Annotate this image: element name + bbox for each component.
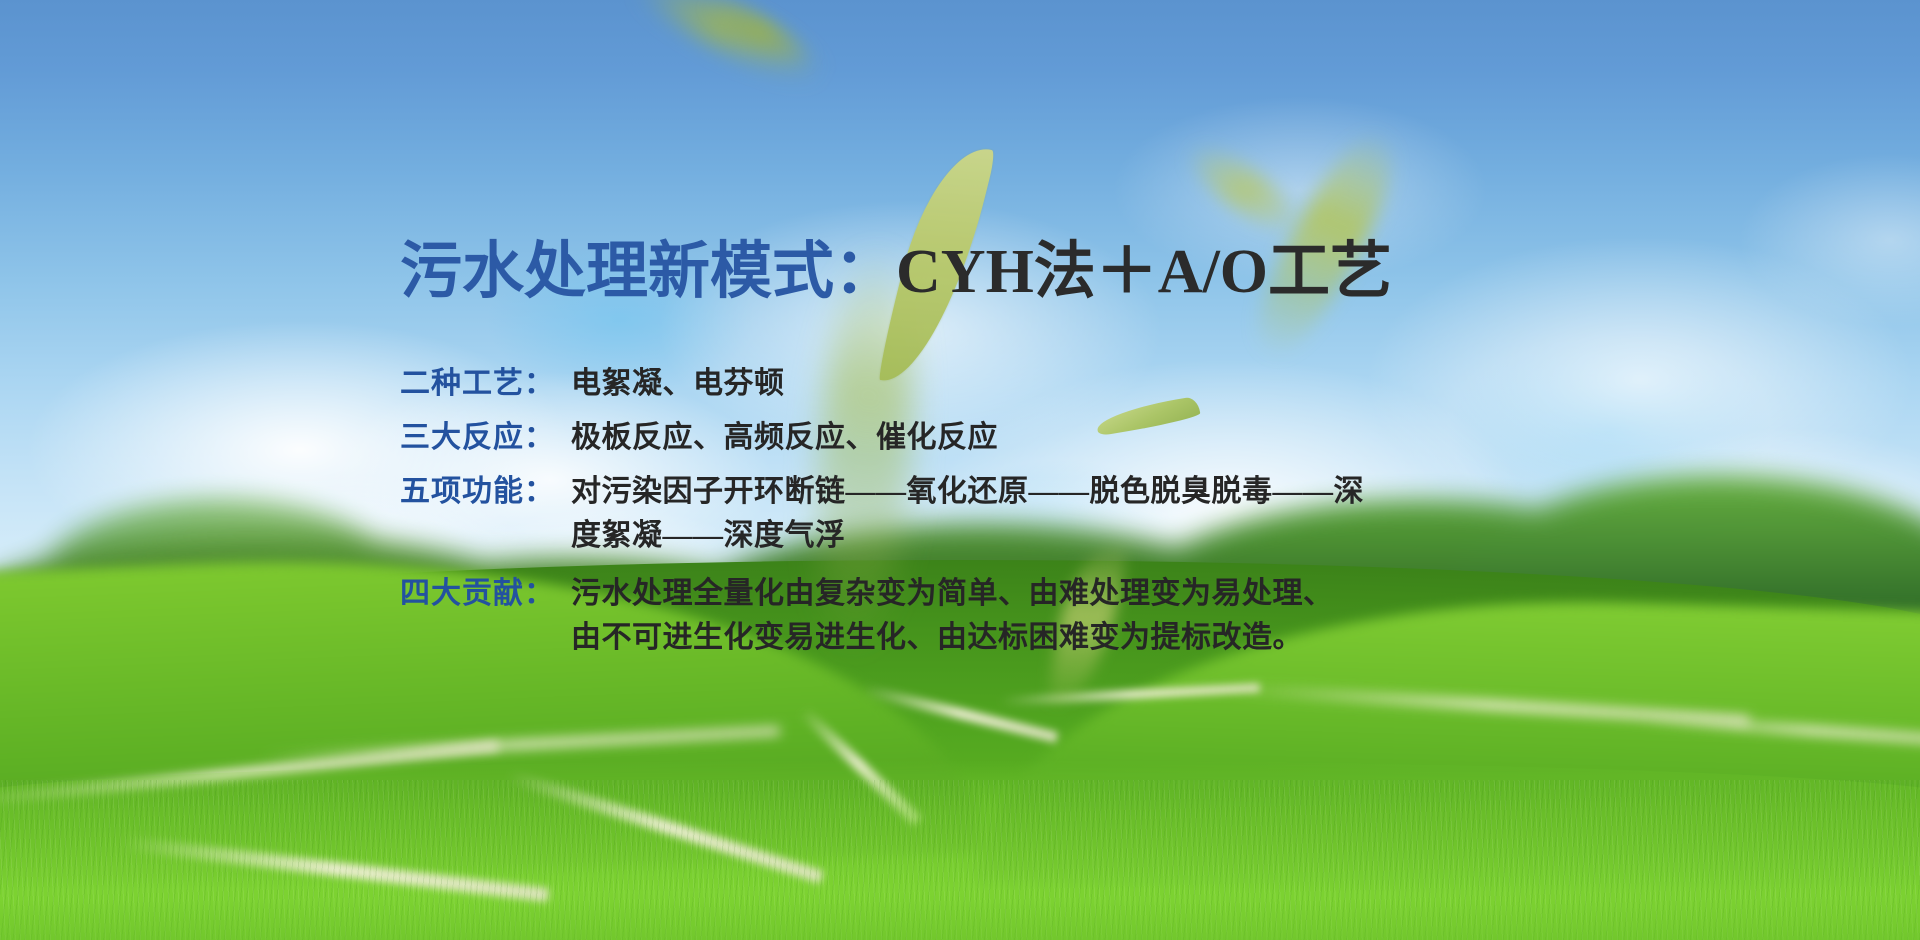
list-item-value-line1: 电絮凝、电芬顿 xyxy=(571,367,785,400)
list-item: 二种工艺： 电絮凝、电芬顿 xyxy=(400,362,1500,406)
list-item-label: 三大反应： xyxy=(400,416,555,460)
slide-title-primary: 污水处理新模式： xyxy=(400,238,896,306)
list-item-value-line1: 污水处理全量化由复杂变为简单、由难处理变为易处理、 xyxy=(571,577,1334,610)
presentation-slide: 污水处理新模式：CYH法＋A/O工艺 二种工艺： 电絮凝、电芬顿 三大反应： 极… xyxy=(0,0,1920,940)
slide-title: 污水处理新模式：CYH法＋A/O工艺 xyxy=(400,238,1392,306)
list-item-label: 四大贡献： xyxy=(400,572,555,616)
list-item-value-line2: 由不可进生化变易进生化、由达标困难变为提标改造。 xyxy=(571,616,1500,660)
list-item-value: 对污染因子开环断链——氧化还原——脱色脱臭脱毒——深 度絮凝——深度气浮 xyxy=(555,470,1500,558)
list-item-value: 污水处理全量化由复杂变为简单、由难处理变为易处理、 由不可进生化变易进生化、由达… xyxy=(555,572,1500,660)
list-item-value-line1: 极板反应、高频反应、催化反应 xyxy=(571,421,998,454)
list-item-value-line2: 度絮凝——深度气浮 xyxy=(571,514,1500,558)
list-item-label: 五项功能： xyxy=(400,470,555,514)
slide-title-secondary: CYH法＋A/O工艺 xyxy=(896,238,1392,306)
list-item-value-line1: 对污染因子开环断链——氧化还原——脱色脱臭脱毒——深 xyxy=(571,475,1364,508)
slide-content: 污水处理新模式：CYH法＋A/O工艺 二种工艺： 电絮凝、电芬顿 三大反应： 极… xyxy=(0,0,1920,940)
list-item-value: 极板反应、高频反应、催化反应 xyxy=(555,416,1500,460)
list-item: 四大贡献： 污水处理全量化由复杂变为简单、由难处理变为易处理、 由不可进生化变易… xyxy=(400,572,1500,660)
list-item: 五项功能： 对污染因子开环断链——氧化还原——脱色脱臭脱毒——深 度絮凝——深度… xyxy=(400,470,1500,558)
list-item-label: 二种工艺： xyxy=(400,362,555,406)
list-item-value: 电絮凝、电芬顿 xyxy=(555,362,1500,406)
list-item: 三大反应： 极板反应、高频反应、催化反应 xyxy=(400,416,1500,460)
slide-body-list: 二种工艺： 电絮凝、电芬顿 三大反应： 极板反应、高频反应、催化反应 五项功能：… xyxy=(400,362,1500,670)
